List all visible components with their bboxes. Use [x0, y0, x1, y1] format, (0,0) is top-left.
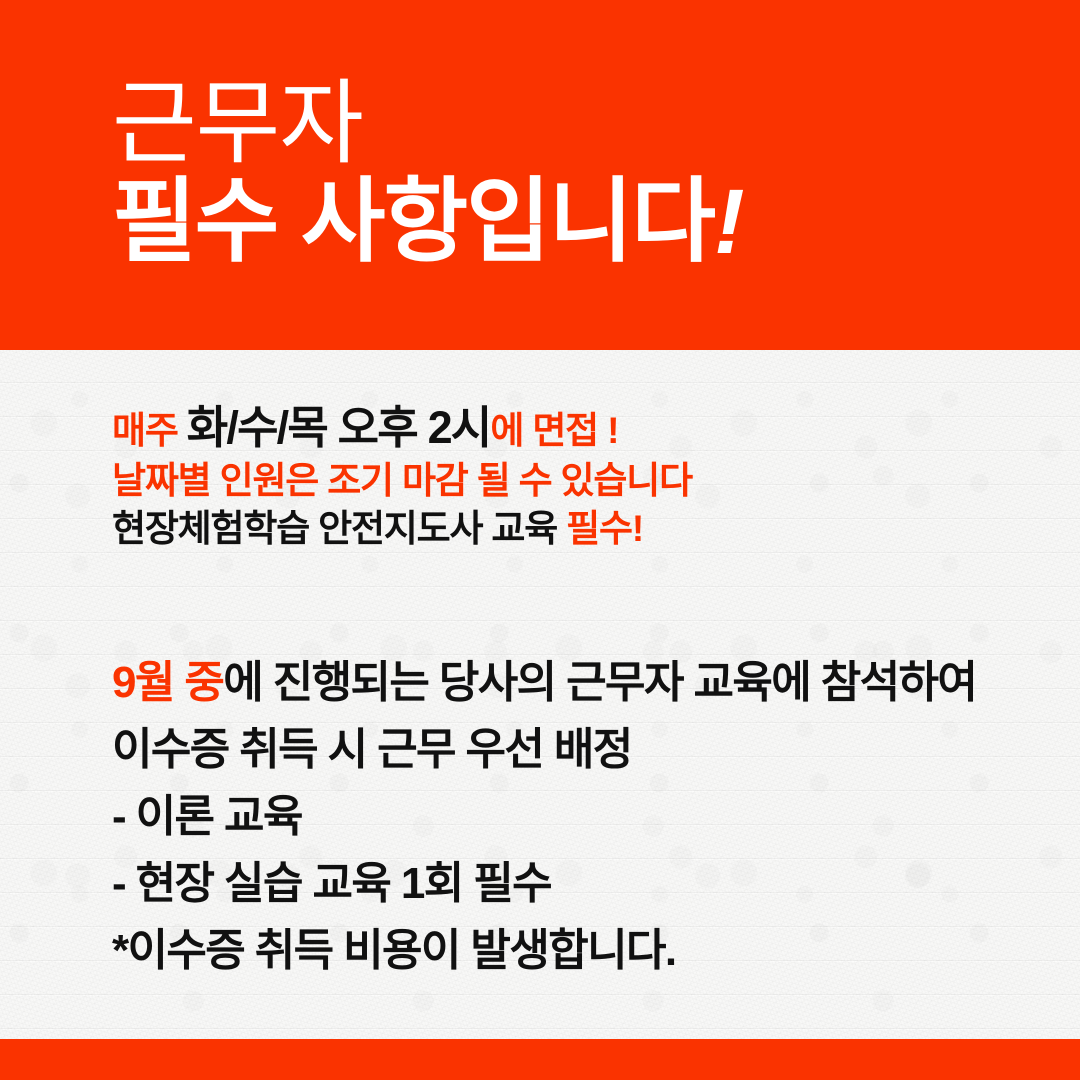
block-spacer — [112, 553, 1012, 649]
title-exclamation-mark: ! — [714, 171, 743, 273]
training-line-priority-assignment: 이수증 취득 시 근무 우선 배정 — [112, 716, 1012, 783]
schedule-suffix-interview: 에 면접 ! — [490, 410, 618, 451]
training-attend-text: 에 진행되는 당사의 근무자 교육에 참석하여 — [223, 658, 976, 707]
schedule-line-safety-training: 현장체험학습 안전지도사 교육 필수! — [112, 505, 1012, 553]
schedule-line-capacity-notice: 날짜별 인원은 조기 마감 될 수 있습니다 — [112, 457, 1012, 505]
footer-band — [0, 1039, 1080, 1080]
schedule-prefix-weekly: 매주 — [112, 410, 187, 451]
training-line-theory: - 이론 교육 — [112, 783, 1012, 850]
body-copy: 매주 화/수/목 오후 2시에 면접 ! 날짜별 인원은 조기 마감 될 수 있… — [112, 402, 1012, 984]
schedule-block: 매주 화/수/목 오후 2시에 면접 ! 날짜별 인원은 조기 마감 될 수 있… — [112, 402, 1012, 553]
training-line-september: 9월 중에 진행되는 당사의 근무자 교육에 참석하여 — [112, 649, 1012, 716]
training-line-field-practice: - 현장 실습 교육 1회 필수 — [112, 850, 1012, 917]
title-line-2-text: 필수 사항입니다 — [112, 171, 714, 273]
training-block: 9월 중에 진행되는 당사의 근무자 교육에 참석하여 이수증 취득 시 근무 … — [112, 649, 1012, 984]
promotional-poster: 근무자 필수 사항입니다! 매주 화/수/목 오후 2시에 면접 ! 날짜별 인… — [0, 0, 1080, 1080]
header-band: 근무자 필수 사항입니다! — [0, 0, 1080, 350]
training-month-highlight: 9월 중 — [112, 658, 223, 707]
safety-training-required-badge: 필수! — [566, 508, 643, 549]
schedule-days-and-time: 화/수/목 오후 2시 — [187, 402, 491, 453]
title-line-1: 근무자 — [112, 78, 743, 170]
title-line-2: 필수 사항입니다! — [112, 176, 743, 268]
schedule-line-interview-time: 매주 화/수/목 오후 2시에 면접 ! — [112, 402, 1012, 457]
training-line-cost-notice: *이수증 취득 비용이 발생합니다. — [112, 917, 1012, 984]
safety-training-text: 현장체험학습 안전지도사 교육 — [112, 508, 566, 549]
page-title: 근무자 필수 사항입니다! — [112, 78, 743, 268]
